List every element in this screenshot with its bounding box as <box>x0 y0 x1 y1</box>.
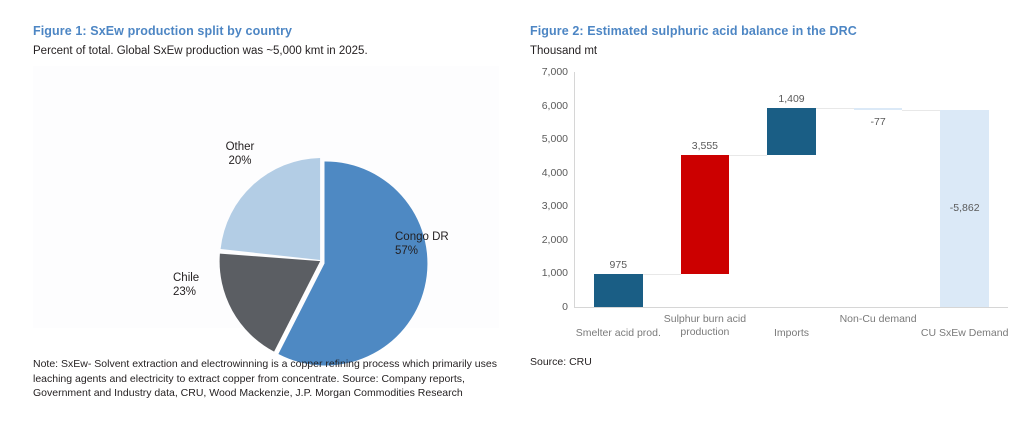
figure-2-source: Source: CRU <box>530 356 592 368</box>
figure-2-panel: Figure 2: Estimated sulphuric acid balan… <box>512 0 1024 422</box>
waterfall-value-label: -77 <box>871 116 886 128</box>
pie-label-congo-dr: Congo DR 57% <box>395 230 475 258</box>
waterfall-value-label: 3,555 <box>692 140 718 152</box>
pie-chart-svg <box>214 156 430 372</box>
y-axis-tick-label: 3,000 <box>542 200 568 212</box>
pie-slice-other[interactable] <box>221 158 321 260</box>
pie-label-congo-dr-value: 57% <box>395 245 418 257</box>
waterfall-value-label: 975 <box>610 259 628 271</box>
waterfall-connector <box>816 108 854 109</box>
pie-chart <box>214 156 430 372</box>
y-axis-tick-label: 1,000 <box>542 267 568 279</box>
pie-label-other-value: 20% <box>228 155 251 167</box>
pie-label-other: Other 20% <box>205 140 275 168</box>
pie-chart-plot-area: Other 20% Chile 23% Congo DR 57% <box>33 66 499 328</box>
y-axis-tick-label: 6,000 <box>542 100 568 112</box>
x-axis-line <box>575 307 1008 308</box>
waterfall-connector <box>902 110 940 111</box>
waterfall-plot-area: 01,0002,0003,0004,0005,0006,0007,000975S… <box>575 72 1008 307</box>
figure-1-footnote: Note: SxEw- Solvent extraction and elect… <box>33 357 503 401</box>
waterfall-chart: 01,0002,0003,0004,0005,0006,0007,000975S… <box>530 64 1008 316</box>
x-axis-category-label: Imports <box>737 327 845 340</box>
waterfall-bar[interactable] <box>594 274 642 307</box>
figures-page: Figure 1: SxEw production split by count… <box>0 0 1024 422</box>
waterfall-value-label: -5,862 <box>950 202 980 214</box>
waterfall-value-label: 1,409 <box>778 93 804 105</box>
pie-label-chile: Chile 23% <box>173 271 233 299</box>
x-axis-category-label: Non-Cu demand <box>824 313 932 326</box>
waterfall-bar[interactable] <box>681 155 729 274</box>
y-axis-tick-label: 0 <box>562 301 568 313</box>
figure-1-panel: Figure 1: SxEw production split by count… <box>0 0 512 422</box>
waterfall-connector <box>729 155 767 156</box>
pie-label-congo-dr-name: Congo DR <box>395 231 449 243</box>
pie-label-chile-name: Chile <box>173 272 199 284</box>
y-axis-tick-label: 5,000 <box>542 133 568 145</box>
y-axis-tick-label: 7,000 <box>542 66 568 78</box>
figure-2-subtitle: Thousand mt <box>530 45 597 57</box>
waterfall-bar[interactable] <box>854 108 902 111</box>
y-axis-tick-label: 4,000 <box>542 167 568 179</box>
figure-1-subtitle: Percent of total. Global SxEw production… <box>33 45 368 57</box>
figure-2-title: Figure 2: Estimated sulphuric acid balan… <box>530 24 857 38</box>
y-axis-tick-label: 2,000 <box>542 234 568 246</box>
pie-label-chile-value: 23% <box>173 286 196 298</box>
waterfall-connector <box>643 274 681 275</box>
x-axis-category-label: CU SxEw Demand <box>911 327 1019 340</box>
pie-label-other-name: Other <box>226 141 255 153</box>
waterfall-bar[interactable] <box>767 108 815 155</box>
figure-1-title: Figure 1: SxEw production split by count… <box>33 24 292 38</box>
